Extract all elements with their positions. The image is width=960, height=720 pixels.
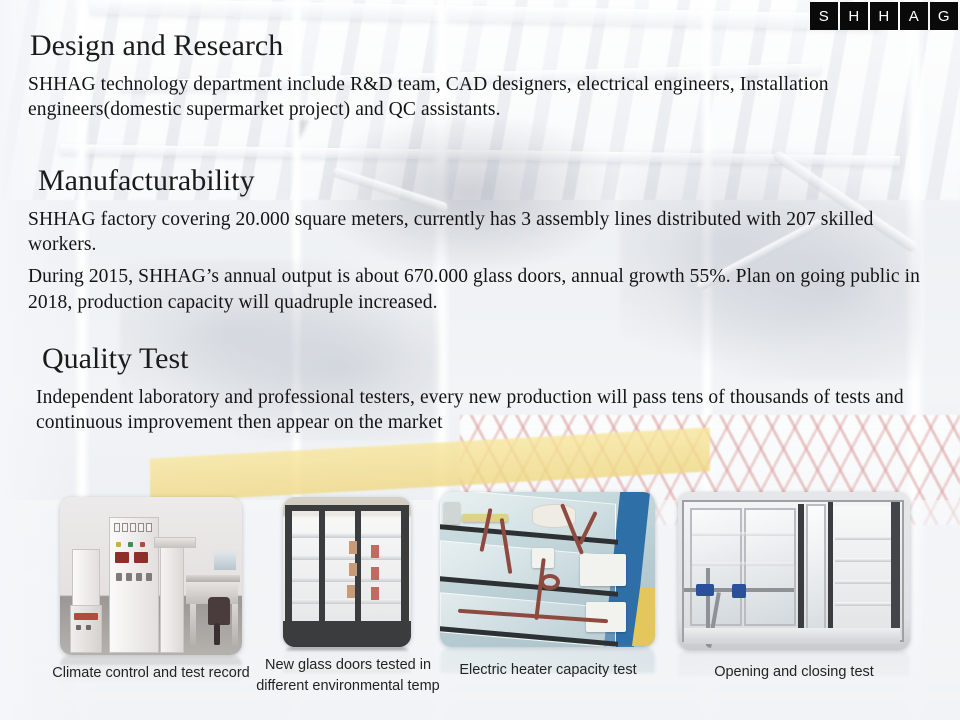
caption-glass-door-temperature-test: New glass doors tested in different envi… [248, 655, 448, 696]
photo-image [283, 497, 411, 647]
logo-letter-5: G [930, 2, 958, 30]
electric-heater-capacity-test-photo: Electric heater capacity test [440, 492, 655, 647]
photo-gallery: Climate control and test record [0, 0, 960, 720]
caption-climate-control-test: Climate control and test record [50, 663, 252, 684]
caption-electric-heater-capacity-test: Electric heater capacity test [450, 660, 646, 681]
photo-image [60, 497, 242, 655]
logo-letter-3: H [870, 2, 898, 30]
photo-image [678, 492, 910, 650]
logo-letter-1: S [810, 2, 838, 30]
logo-letter-4: A [900, 2, 928, 30]
slide: S H H A G Design and Research SHHAG tech… [0, 0, 960, 720]
shhag-logo: S H H A G [810, 2, 958, 30]
caption-opening-closing-test: Opening and closing test [694, 662, 894, 683]
climate-control-test-photo: Climate control and test record [60, 497, 242, 655]
logo-letter-2: H [840, 2, 868, 30]
photo-image [440, 492, 655, 647]
glass-door-temperature-test-photo: New glass doors tested in different envi… [283, 497, 411, 647]
opening-closing-test-photo: Opening and closing test [678, 492, 910, 650]
